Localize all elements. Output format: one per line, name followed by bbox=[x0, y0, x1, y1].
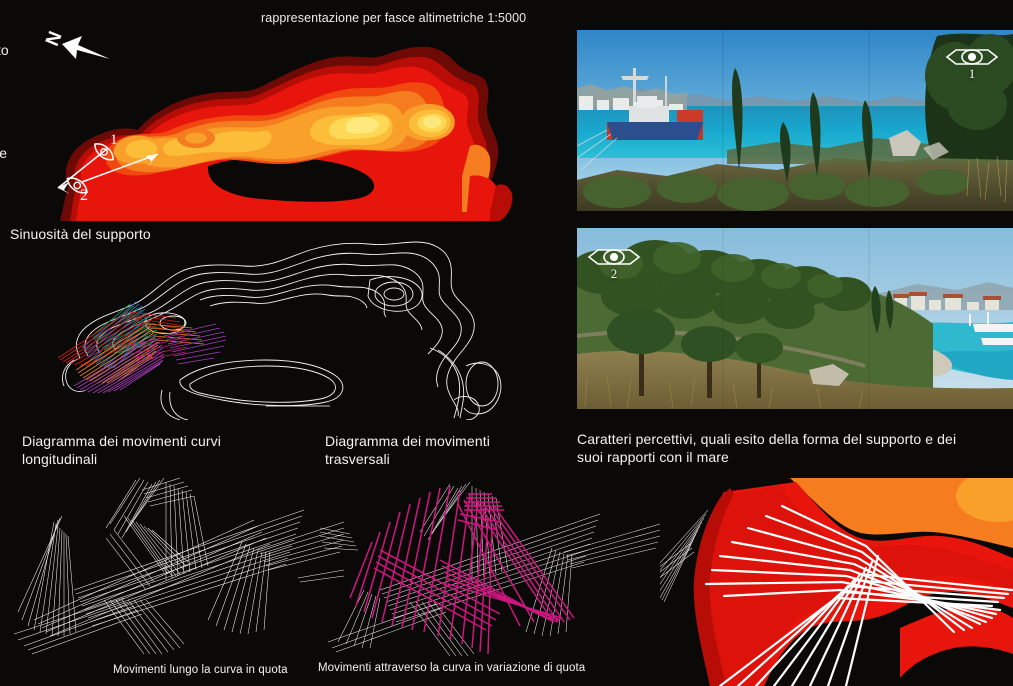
viewpoint-2-label: 2 bbox=[80, 187, 88, 204]
left-clipped-paragraph: posto per llo a: erare bbox=[0, 40, 9, 163]
diagram-transversal-movements bbox=[320, 470, 660, 658]
caption-bottom-left: Movimenti lungo la curva in quota bbox=[113, 663, 288, 677]
viewpoint-markers: 1 2 bbox=[40, 120, 180, 215]
eye-icon bbox=[585, 246, 643, 268]
viewpoint-1-label: 1 bbox=[110, 132, 118, 148]
photo-panorama-pine-hill: 2 bbox=[577, 228, 1013, 409]
eye-icon bbox=[943, 46, 1001, 68]
photo-2-viewpoint-label: 2 bbox=[585, 266, 643, 282]
caption-bottom-right: Movimenti attraverso la curva in variazi… bbox=[318, 661, 585, 675]
photo-1-viewpoint-marker: 1 bbox=[943, 46, 1001, 80]
contour-map bbox=[30, 240, 520, 420]
photo-1-viewpoint-label: 1 bbox=[943, 66, 1001, 82]
presentation-board: rappresentazione per fasce altimetriche … bbox=[0, 0, 1013, 686]
photo-2-viewpoint-marker: 2 bbox=[585, 246, 643, 280]
photo-panorama-harbour: 1 bbox=[577, 30, 1013, 211]
caption-transversal: Diagramma dei movimenti trasversali bbox=[325, 432, 490, 468]
diagram-longitudinal-movements bbox=[14, 470, 344, 655]
caption-perceptual: Caratteri percettivi, quali esito della … bbox=[577, 430, 956, 466]
terrain-detail-with-sightlines bbox=[660, 478, 1013, 686]
caption-longitudinal: Diagramma dei movimenti curvi longitudin… bbox=[22, 432, 221, 468]
page-title: rappresentazione per fasce altimetriche … bbox=[261, 10, 526, 27]
